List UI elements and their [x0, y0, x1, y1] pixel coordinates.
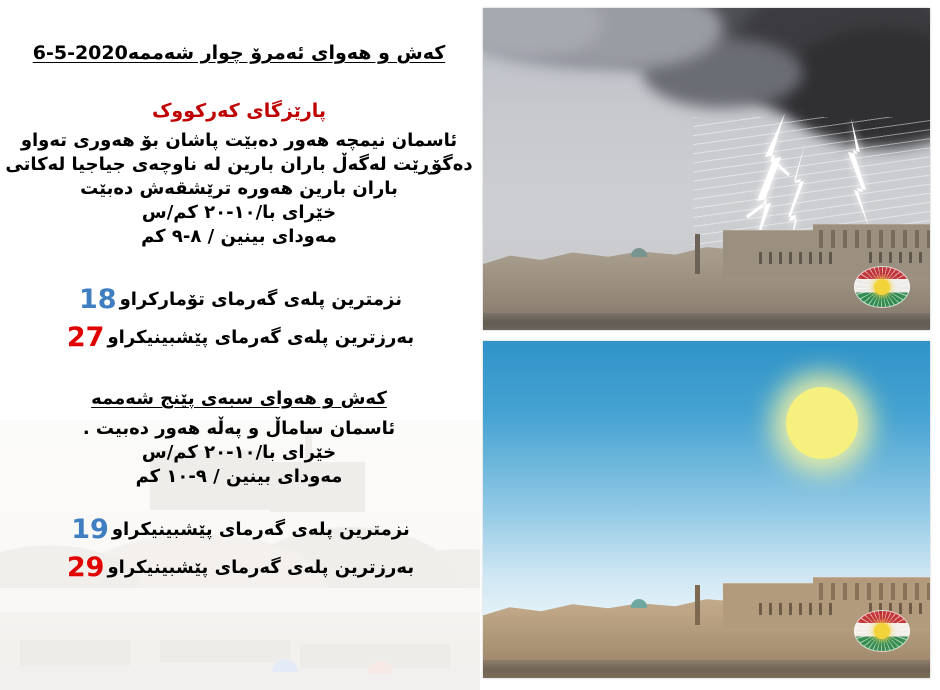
- today-wind-speed: خێرای با/۱۰-۲۰ کم/س: [0, 202, 478, 223]
- today-min-temp-value: 18: [76, 284, 120, 315]
- today-max-temp-row: بەرزترین پلەی گەرمای پێشبینیکراو27: [0, 322, 478, 354]
- province-name: پارێزگای کەرکووک: [0, 100, 478, 122]
- mosque-dome: [631, 248, 647, 257]
- tomorrow-min-temp-row: نزمترین پلەی گەرمای پێشبینیکراو19: [0, 514, 478, 546]
- storm-photo: [483, 8, 930, 330]
- tomorrow-max-temp-value: 29: [64, 552, 108, 583]
- kurdistan-meteorology-emblem: [854, 266, 910, 308]
- tomorrow-forecast-line-1: ئاسمان ساماڵ و پەڵە هەور دەبیت .: [0, 418, 478, 439]
- today-visibility: مەودای بینین / ۸-۹ کم: [0, 226, 478, 247]
- citadel-arcade: [819, 230, 930, 248]
- today-max-temp-label: بەرزترین پلەی گەرمای پێشبینیکراو: [107, 327, 414, 348]
- today-max-temp-value: 27: [64, 322, 108, 353]
- tomorrow-visibility: مەودای بینین / ۹-۱۰ کم: [0, 466, 478, 487]
- today-forecast-line-3: باران بارین هەورە ترێشقەش دەبێت: [0, 178, 478, 199]
- tomorrow-max-temp-label: بەرزترین پلەی گەرمای پێشبینیکراو: [107, 557, 414, 578]
- weather-report-slide: کەش و هەوای ئەمرۆ چوار شەممە2020-5-6 پار…: [0, 0, 940, 690]
- report-text-column: کەش و هەوای ئەمرۆ چوار شەممە2020-5-6 پار…: [0, 0, 478, 690]
- sun-icon: [786, 387, 858, 459]
- today-forecast-line-2: دەگۆڕێت لەگەڵ باران بارین لە ناوچەی جیاج…: [0, 154, 478, 175]
- mosque-dome: [631, 599, 647, 608]
- citadel-windows: [869, 252, 929, 263]
- citadel-windows: [759, 252, 839, 264]
- emblem-rays-icon: [855, 611, 909, 651]
- tomorrow-min-temp-label: نزمترین پلەی گەرمای پێشبینیکراو: [112, 519, 410, 540]
- tomorrow-wind-speed: خێرای با/۱۰-۲۰ کم/س: [0, 442, 478, 463]
- tomorrow-heading: کەش و هەوای سبەی پێنج شەممە: [0, 388, 478, 409]
- report-headline: کەش و هەوای ئەمرۆ چوار شەممە2020-5-6: [0, 42, 478, 64]
- sunny-photo: [483, 341, 930, 678]
- town-strip: [483, 660, 930, 678]
- kurdistan-meteorology-emblem: [854, 610, 910, 652]
- town-strip: [483, 313, 930, 330]
- today-min-temp-row: نزمترین پلەی گەرمای تۆمارکراو18: [0, 284, 478, 316]
- minaret: [695, 585, 700, 625]
- today-min-temp-label: نزمترین پلەی گەرمای تۆمارکراو: [120, 289, 402, 310]
- citadel-arcade: [819, 583, 930, 600]
- today-forecast-line-1: ئاسمان نیمچە هەور دەبێت پاشان بۆ هەوری ت…: [0, 130, 478, 151]
- tomorrow-max-temp-row: بەرزترین پلەی گەرمای پێشبینیکراو29: [0, 552, 478, 584]
- minaret: [695, 234, 700, 274]
- citadel-windows: [759, 603, 839, 615]
- lightning-bolt-icon: [835, 118, 885, 228]
- tomorrow-min-temp-value: 19: [68, 514, 112, 545]
- emblem-rays-icon: [855, 267, 909, 307]
